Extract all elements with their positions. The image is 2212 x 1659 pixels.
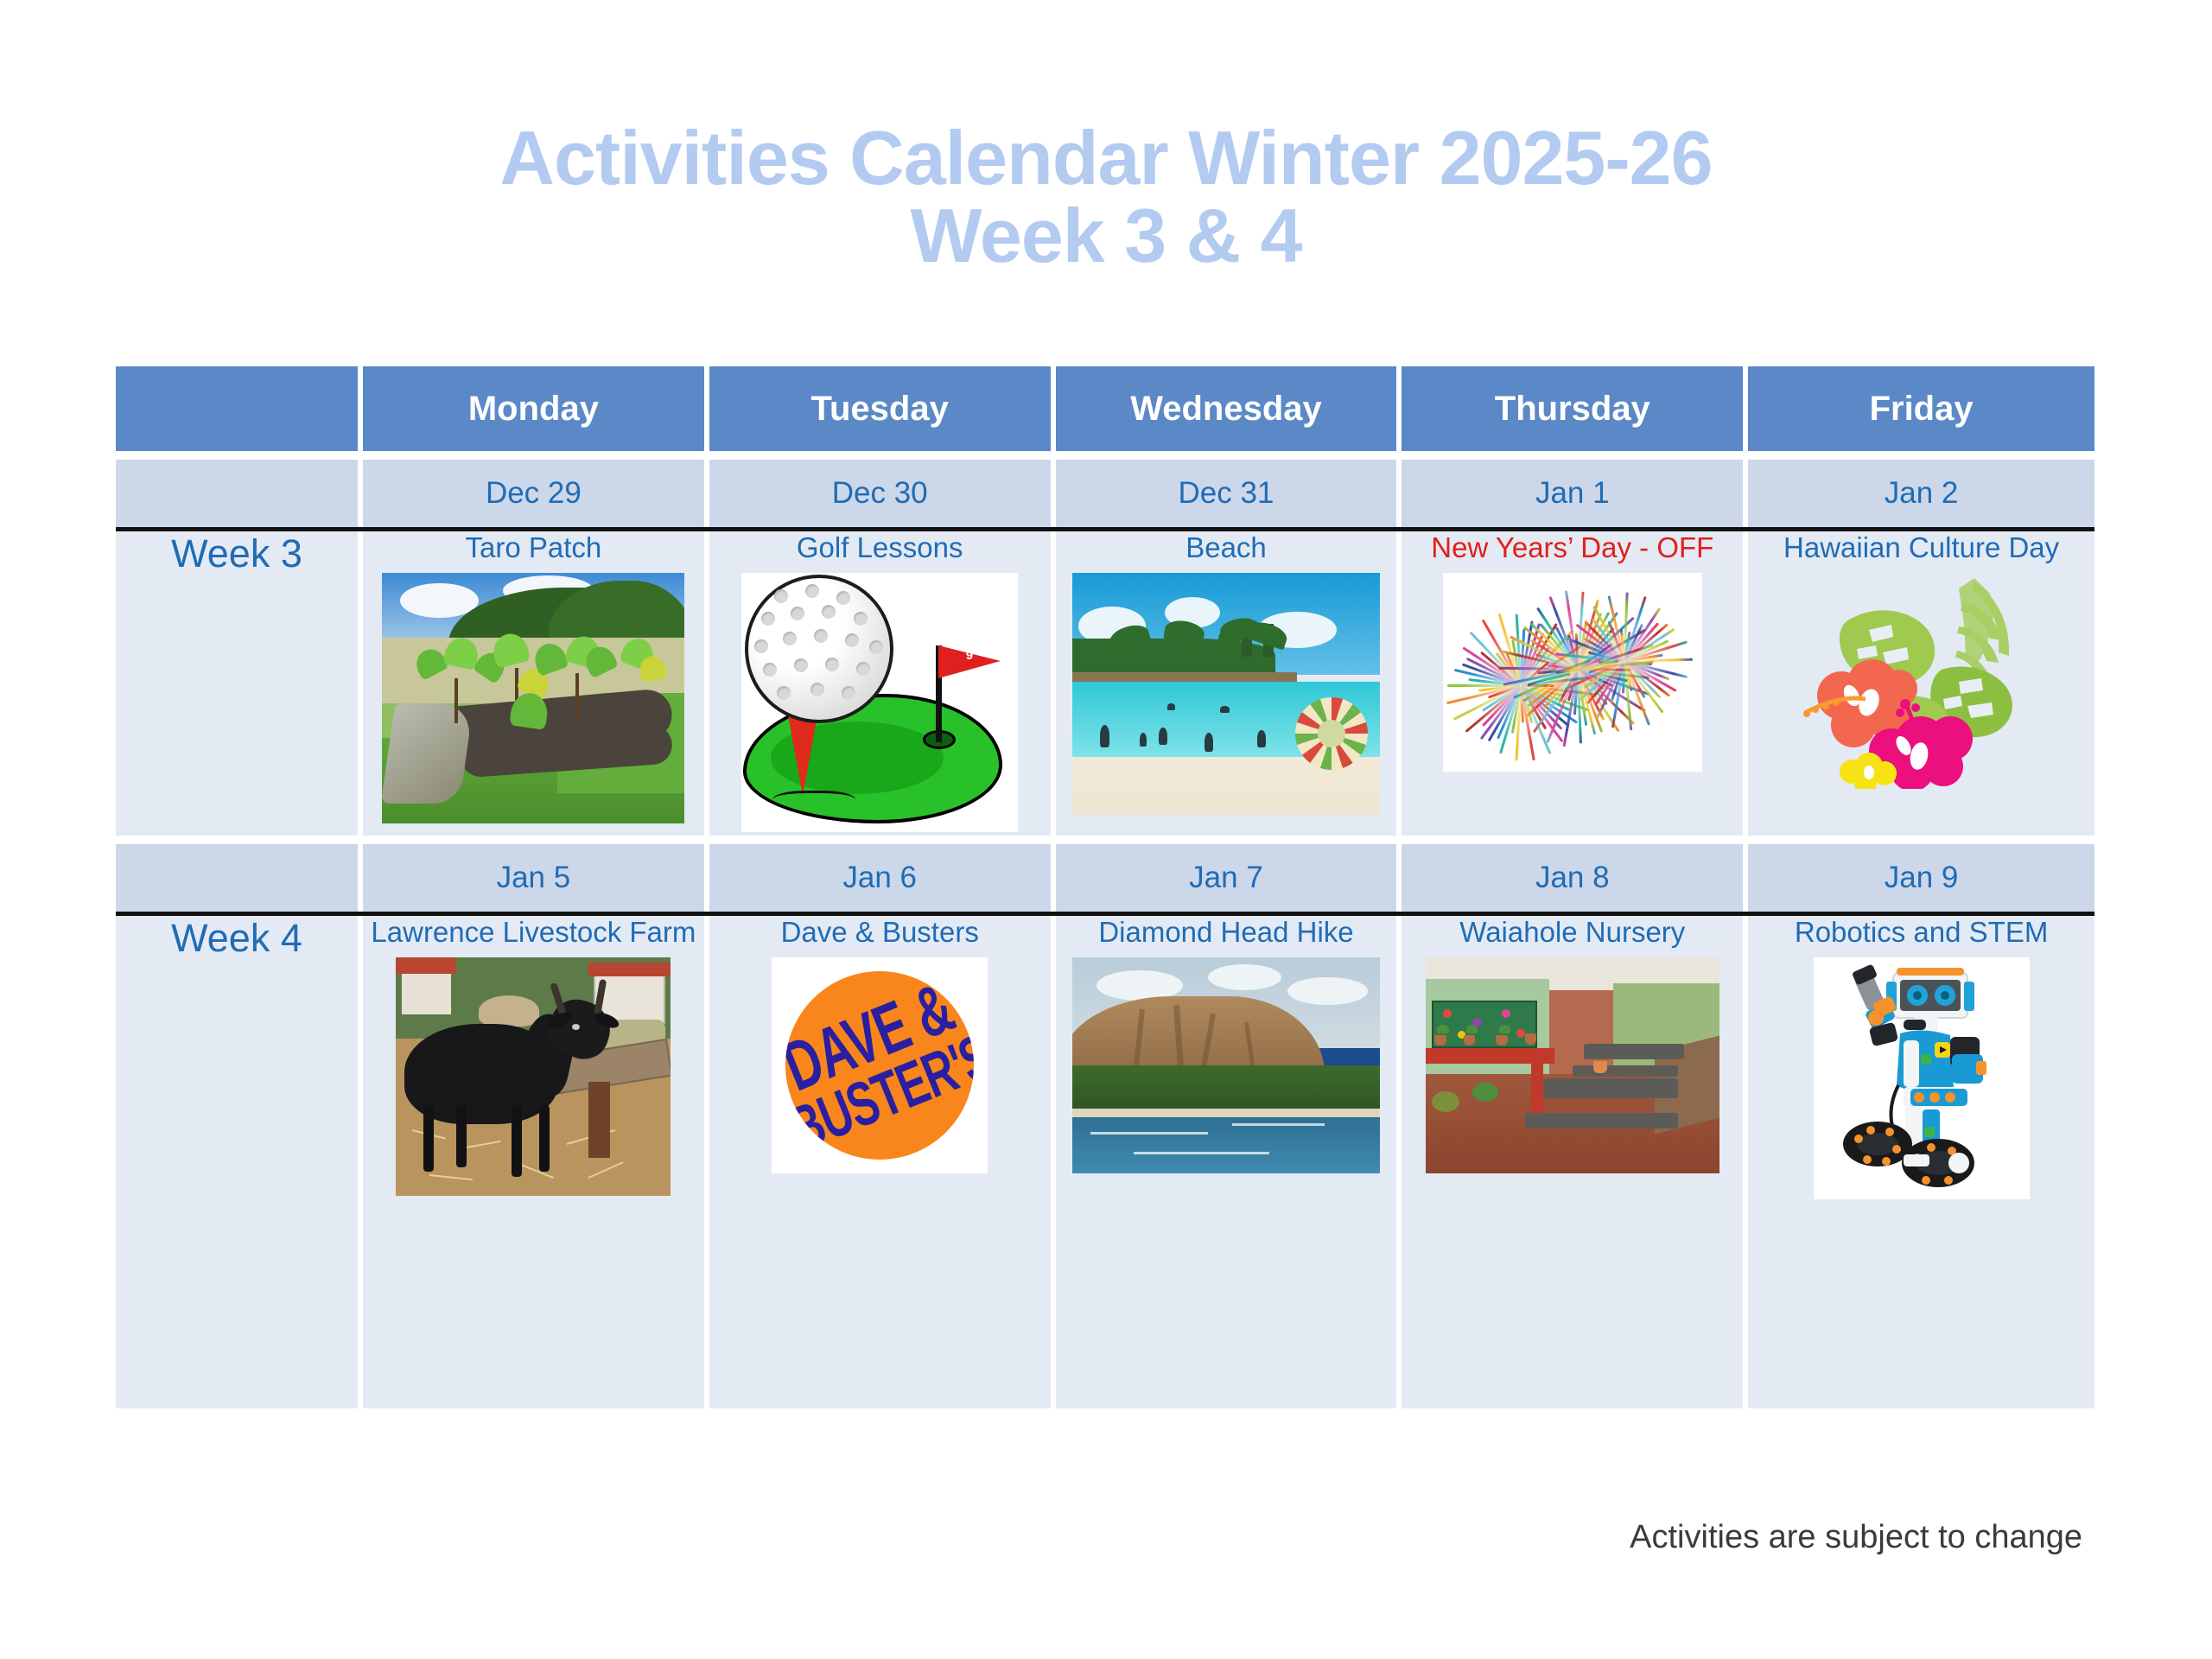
activity-label-waiahole-nursery: Waiahole Nursery	[1402, 916, 1743, 950]
activity-label-golf-lessons: Golf Lessons	[709, 531, 1051, 566]
cell-week4-wednesday[interactable]: Diamond Head Hike	[1056, 916, 1402, 1408]
robot-photo	[1814, 957, 2030, 1199]
header-corner-cell	[116, 366, 363, 451]
week4-body-row: Week 4 Lawrence Livestock Farm	[116, 916, 2094, 1408]
golf-clipart: 9	[741, 573, 1018, 832]
activity-label-robotics-and-stem: Robotics and STEM	[1748, 916, 2094, 950]
activity-art-wrap	[1402, 957, 1743, 1173]
hibiscus-clipart	[1789, 573, 2053, 789]
beach-photo	[1072, 573, 1380, 815]
cell-week4-thursday[interactable]: Waiahole Nursery	[1402, 916, 1748, 1408]
activity-art-wrap	[1056, 957, 1397, 1173]
diamond-head-photo	[1072, 957, 1380, 1173]
activity-label-hawaiian-culture-day: Hawaiian Culture Day	[1748, 531, 2094, 566]
header-tuesday: Tuesday	[709, 366, 1056, 451]
hibiscus-svg	[1789, 573, 2053, 789]
activity-art-wrap	[363, 573, 704, 823]
activity-art-wrap	[1056, 573, 1397, 815]
goat-photo	[396, 957, 671, 1196]
header-spacer-row	[116, 451, 2094, 460]
week3-body-row: Week 3 Taro Patch	[116, 531, 2094, 836]
activity-label-lawrence-livestock-farm: Lawrence Livestock Farm	[363, 916, 704, 950]
week4-date-wednesday: Jan 7	[1056, 844, 1402, 912]
header-wednesday: Wednesday	[1056, 366, 1402, 451]
activity-art-wrap: 9	[709, 573, 1051, 832]
header-thursday: Thursday	[1402, 366, 1748, 451]
activity-art-wrap	[1748, 957, 2094, 1199]
cell-week3-monday[interactable]: Taro Patch	[363, 531, 709, 836]
week3-date-corner	[116, 460, 363, 527]
activity-art-wrap	[1402, 573, 1743, 772]
activity-art-wrap	[1748, 573, 2094, 789]
week3-spacer-row	[116, 836, 2094, 844]
activity-art-wrap	[363, 957, 704, 1196]
header-monday: Monday	[363, 366, 709, 451]
robot-svg	[1814, 957, 2030, 1199]
week4-date-corner	[116, 844, 363, 912]
title-line-1: Activities Calendar Winter 2025-26	[499, 115, 1712, 200]
activity-label-new-years-day-off: New Years’ Day - OFF	[1402, 531, 1743, 566]
taro-patch-photo	[382, 573, 684, 823]
week4-date-tuesday: Jan 6	[709, 844, 1056, 912]
cell-week3-wednesday[interactable]: Beach	[1056, 531, 1402, 836]
spacer-cell	[116, 836, 2094, 844]
week3-date-thursday: Jan 1	[1402, 460, 1748, 527]
footer-note: Activities are subject to change	[0, 1519, 2082, 1556]
fireworks-clipart	[1443, 573, 1702, 772]
cell-week3-thursday[interactable]: New Years’ Day - OFF	[1402, 531, 1748, 836]
dave-busters-circle: DAVE & BUSTER'S	[785, 971, 974, 1160]
week3-date-row: Dec 29 Dec 30 Dec 31 Jan 1 Jan 2	[116, 460, 2094, 527]
activity-label-beach: Beach	[1056, 531, 1397, 566]
cell-week3-tuesday[interactable]: Golf Lessons 9	[709, 531, 1056, 836]
week4-label: Week 4	[116, 916, 363, 1408]
week4-date-friday: Jan 9	[1748, 844, 2094, 912]
nursery-photo	[1426, 957, 1719, 1173]
activity-art-wrap: DAVE & BUSTER'S	[709, 957, 1051, 1173]
table-header-row: Monday Tuesday Wednesday Thursday Friday	[116, 366, 2094, 451]
week3-date-friday: Jan 2	[1748, 460, 2094, 527]
week3-date-tuesday: Dec 30	[709, 460, 1056, 527]
activity-label-dave-busters: Dave & Busters	[709, 916, 1051, 950]
activity-label-diamond-head-hike: Diamond Head Hike	[1056, 916, 1397, 950]
week4-date-thursday: Jan 8	[1402, 844, 1748, 912]
page-title: Activities Calendar Winter 2025-26 Week …	[0, 119, 2212, 275]
week4-date-row: Jan 5 Jan 6 Jan 7 Jan 8 Jan 9	[116, 844, 2094, 912]
week4-date-monday: Jan 5	[363, 844, 709, 912]
title-line-2: Week 3 & 4	[0, 197, 2212, 275]
header-friday: Friday	[1748, 366, 2094, 451]
cell-week4-tuesday[interactable]: Dave & Busters DAVE & BUSTER'S	[709, 916, 1056, 1408]
week3-label: Week 3	[116, 531, 363, 836]
cell-week4-friday[interactable]: Robotics and STEM	[1748, 916, 2094, 1408]
calendar-page: Activities Calendar Winter 2025-26 Week …	[0, 0, 2212, 1659]
cell-week3-friday[interactable]: Hawaiian Culture Day	[1748, 531, 2094, 836]
spacer-cell	[116, 451, 2094, 460]
week3-date-monday: Dec 29	[363, 460, 709, 527]
golf-flag-number: 9	[966, 648, 973, 663]
activities-table: Monday Tuesday Wednesday Thursday Friday…	[116, 366, 2094, 1408]
cell-week4-monday[interactable]: Lawrence Livestock Farm	[363, 916, 709, 1408]
activity-label-taro-patch: Taro Patch	[363, 531, 704, 566]
dave-busters-logo: DAVE & BUSTER'S	[772, 957, 988, 1173]
week3-date-wednesday: Dec 31	[1056, 460, 1402, 527]
